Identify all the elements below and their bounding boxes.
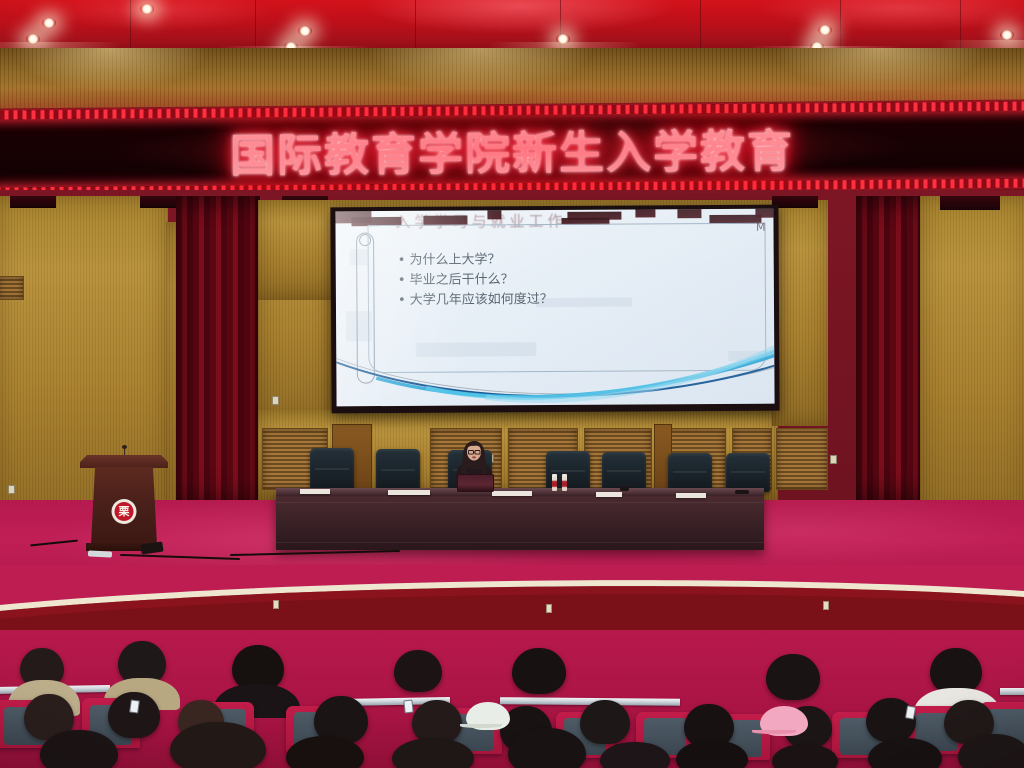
slide-bullet: 大学几年应该如何度过？ bbox=[398, 290, 553, 311]
aisle-railing bbox=[1000, 688, 1024, 695]
slide-corner-mark: M bbox=[756, 221, 766, 234]
exec-chair[interactable] bbox=[726, 453, 770, 492]
table-document bbox=[596, 492, 622, 497]
stage-curtain-left bbox=[176, 196, 260, 512]
audience-white-cap-brim bbox=[460, 724, 502, 728]
exec-chair[interactable] bbox=[376, 449, 420, 492]
table-microphone bbox=[735, 490, 749, 494]
presenter-laptop[interactable] bbox=[457, 474, 494, 492]
wall-panel-right bbox=[920, 196, 1024, 518]
ac-vent bbox=[772, 196, 818, 208]
audience-head bbox=[512, 648, 566, 694]
audience-phone[interactable] bbox=[129, 699, 140, 713]
slide-bullet-list: 为什么上大学？ 毕业之后干什么？ 大学几年应该如何度过？ bbox=[398, 250, 553, 311]
ceiling-downlight bbox=[298, 26, 312, 36]
water-bottle[interactable] bbox=[552, 474, 557, 491]
table-microphone bbox=[620, 486, 629, 491]
ceiling-downlight bbox=[140, 4, 154, 14]
water-bottle[interactable] bbox=[562, 474, 567, 491]
audience-pink-cap-brim bbox=[752, 730, 796, 734]
apron-outlet bbox=[546, 604, 552, 613]
wall-socket bbox=[272, 396, 279, 405]
slide-bullet: 毕业之后干什么？ bbox=[398, 270, 553, 291]
table-document bbox=[388, 490, 430, 495]
acoustic-slat-panel bbox=[0, 276, 24, 300]
audience-head bbox=[580, 700, 630, 744]
ac-vent bbox=[940, 196, 1000, 210]
speaker-podium[interactable]: 栗 bbox=[80, 455, 168, 555]
ceiling-downlight bbox=[1000, 30, 1014, 40]
projection-screen-frame: 入学学习与就业工作 为什么上大学？ 毕业之后干什么？ 大学几年应该如何度过？ M bbox=[330, 205, 779, 414]
ceiling-downlight bbox=[26, 34, 40, 44]
table-document bbox=[492, 491, 532, 496]
audience-head bbox=[766, 654, 820, 700]
led-banner: 国际教育学院新生入学教育 bbox=[0, 99, 1024, 198]
ceiling-downlight bbox=[556, 34, 570, 44]
university-emblem: 栗 bbox=[112, 499, 137, 524]
ceiling-downlight bbox=[42, 18, 56, 28]
wall-socket bbox=[830, 455, 837, 464]
audience-head bbox=[170, 722, 266, 768]
exec-chair[interactable] bbox=[668, 453, 712, 492]
table-document bbox=[300, 489, 330, 494]
stage-monitor-speaker bbox=[88, 550, 112, 557]
table-document bbox=[676, 493, 706, 498]
slide-bullet: 为什么上大学？ bbox=[398, 250, 553, 271]
auditorium-photo: 国际教育学院新生入学教育 bbox=[0, 0, 1024, 768]
ceiling-downlight bbox=[818, 25, 832, 35]
emblem-glyph: 栗 bbox=[115, 502, 134, 521]
apron-outlet bbox=[823, 601, 829, 610]
ac-vent bbox=[10, 196, 56, 208]
slide-wave-decoration bbox=[336, 346, 774, 407]
wall-panel-right-center bbox=[772, 200, 828, 426]
audience-phone[interactable] bbox=[403, 700, 413, 714]
wall-socket bbox=[8, 485, 15, 494]
podium-desktop bbox=[80, 455, 168, 468]
acoustic-slat-panel bbox=[776, 428, 828, 490]
audience-head bbox=[394, 650, 442, 692]
exec-chair[interactable] bbox=[310, 448, 354, 492]
banner-title: 国际教育学院新生入学教育 bbox=[0, 110, 1024, 187]
apron-outlet bbox=[273, 600, 279, 609]
stage-curtain-right bbox=[856, 196, 926, 508]
projection-screen: 入学学习与就业工作 为什么上大学？ 毕业之后干什么？ 大学几年应该如何度过？ M bbox=[335, 209, 774, 407]
